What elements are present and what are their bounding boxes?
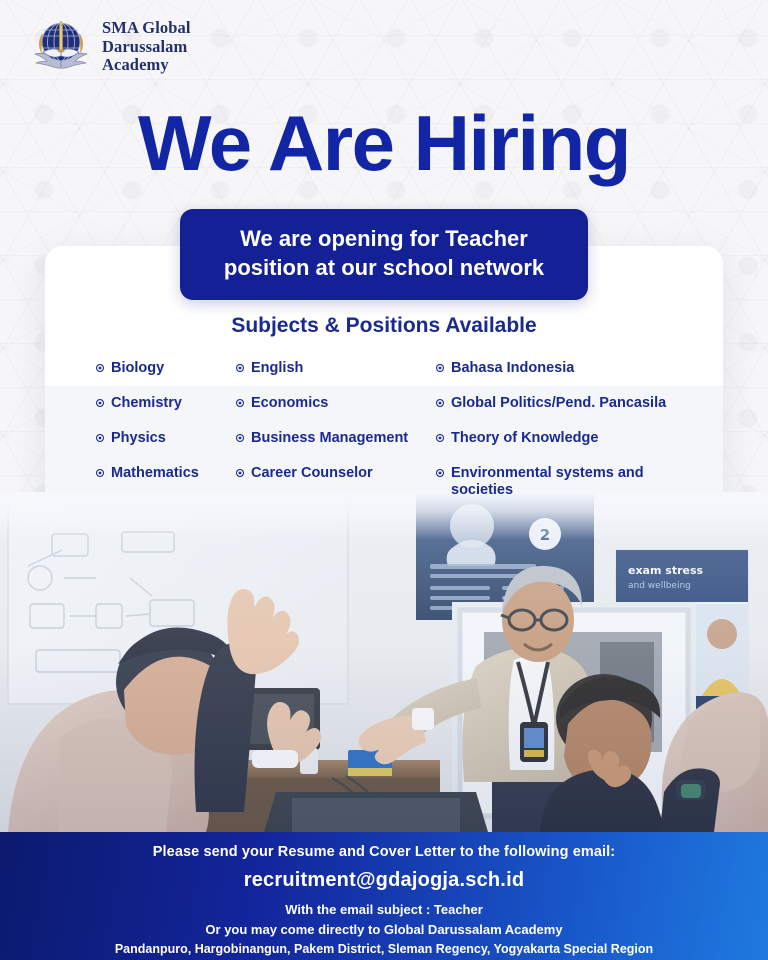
list-item: Theory of Knowledge bbox=[436, 430, 696, 465]
subjects-list: Biology Chemistry Physics Mathematics En… bbox=[96, 360, 696, 500]
subject-label: Environmental systems and societies bbox=[451, 465, 696, 499]
footer-instruction: Please send your Resume and Cover Letter… bbox=[0, 844, 768, 860]
subject-label: Biology bbox=[111, 360, 164, 377]
subject-label: Economics bbox=[251, 395, 328, 412]
subject-label: Mathematics bbox=[111, 465, 199, 482]
list-item: Business Management bbox=[236, 430, 436, 465]
ring-bullet-icon bbox=[436, 469, 444, 477]
ring-bullet-icon bbox=[236, 399, 244, 407]
list-item: Chemistry bbox=[96, 395, 236, 430]
subjects-column-2: English Economics Business Management Ca… bbox=[236, 360, 436, 500]
brand-name-line-3: Academy bbox=[102, 56, 191, 75]
subject-label: Career Counselor bbox=[251, 465, 373, 482]
list-item: Environmental systems and societies bbox=[436, 465, 696, 500]
ring-bullet-icon bbox=[436, 364, 444, 372]
ring-bullet-icon bbox=[436, 399, 444, 407]
list-item: Career Counselor bbox=[236, 465, 436, 500]
ring-bullet-icon bbox=[96, 434, 104, 442]
ring-bullet-icon bbox=[236, 469, 244, 477]
subject-label: Chemistry bbox=[111, 395, 182, 412]
subject-label: Theory of Knowledge bbox=[451, 430, 598, 447]
ring-bullet-icon bbox=[96, 364, 104, 372]
subject-label: Physics bbox=[111, 430, 166, 447]
classroom-photo: 2 exam stress and wellbeing bbox=[0, 492, 768, 832]
banner-line-1: We are opening for Teacher bbox=[200, 225, 568, 254]
list-item: Biology bbox=[96, 360, 236, 395]
subjects-column-3: Bahasa Indonesia Global Politics/Pend. P… bbox=[436, 360, 696, 500]
list-item: Bahasa Indonesia bbox=[436, 360, 696, 395]
page-title: We Are Hiring bbox=[0, 104, 768, 182]
brand-name: SMA Global Darussalam Academy bbox=[102, 19, 191, 75]
brand-header: SMA Global Darussalam Academy bbox=[30, 16, 191, 78]
subjects-heading: Subjects & Positions Available bbox=[0, 314, 768, 338]
list-item: Economics bbox=[236, 395, 436, 430]
footer-walkin-note: Or you may come directly to Global Darus… bbox=[0, 922, 768, 937]
recruitment-email[interactable]: recruitment@gdajogja.sch.id bbox=[0, 869, 768, 892]
subjects-column-1: Biology Chemistry Physics Mathematics bbox=[96, 360, 236, 500]
ring-bullet-icon bbox=[96, 399, 104, 407]
ring-bullet-icon bbox=[236, 434, 244, 442]
hiring-poster: SMA Global Darussalam Academy We Are Hir… bbox=[0, 0, 768, 960]
classroom-photo-image: 2 exam stress and wellbeing bbox=[0, 492, 768, 832]
ring-bullet-icon bbox=[236, 364, 244, 372]
winged-globe-sword-emblem-icon bbox=[30, 16, 92, 78]
announcement-banner: We are opening for Teacher position at o… bbox=[180, 209, 588, 300]
brand-name-line-2: Darussalam bbox=[102, 38, 191, 57]
list-item: English bbox=[236, 360, 436, 395]
list-item: Global Politics/Pend. Pancasila bbox=[436, 395, 696, 430]
list-item: Mathematics bbox=[96, 465, 236, 500]
banner-line-2: position at our school network bbox=[200, 254, 568, 283]
subject-label: Bahasa Indonesia bbox=[451, 360, 574, 377]
subject-label: Business Management bbox=[251, 430, 408, 447]
brand-name-line-1: SMA Global bbox=[102, 19, 191, 38]
footer-subject-note: With the email subject : Teacher bbox=[0, 902, 768, 917]
list-item: Physics bbox=[96, 430, 236, 465]
ring-bullet-icon bbox=[96, 469, 104, 477]
subject-label: Global Politics/Pend. Pancasila bbox=[451, 395, 666, 412]
footer-address: Pandanpuro, Hargobinangun, Pakem Distric… bbox=[0, 942, 768, 956]
subject-label: English bbox=[251, 360, 303, 377]
ring-bullet-icon bbox=[436, 434, 444, 442]
contact-footer: Please send your Resume and Cover Letter… bbox=[0, 832, 768, 960]
